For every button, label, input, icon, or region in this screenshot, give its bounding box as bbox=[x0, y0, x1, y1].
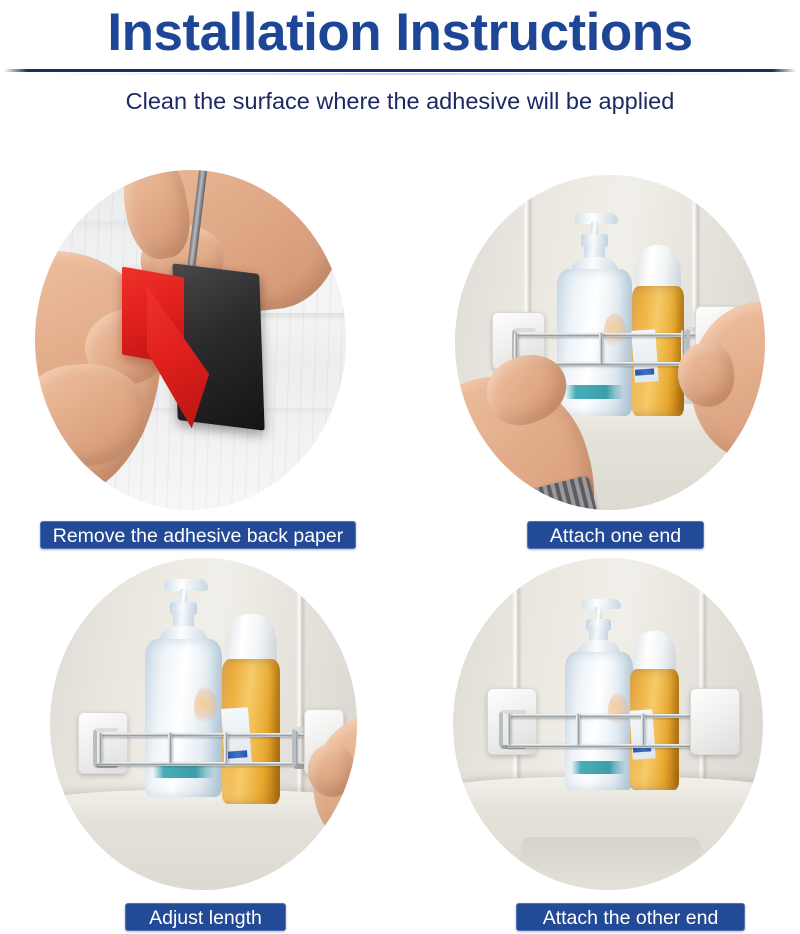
adhesive-pad-right bbox=[690, 688, 740, 755]
page-subtitle: Clean the surface where the adhesive wil… bbox=[0, 88, 800, 115]
countertop bbox=[50, 790, 357, 890]
thumb-right-pulling bbox=[308, 744, 354, 797]
header-divider-shadow bbox=[40, 73, 760, 75]
rack-wire-top bbox=[98, 733, 309, 737]
step-1-caption: Remove the adhesive back paper bbox=[40, 521, 356, 549]
step-2-photo bbox=[455, 175, 765, 510]
rack-wire-bottom bbox=[98, 762, 309, 766]
rack-wire-mid bbox=[576, 714, 580, 745]
wire-rack bbox=[78, 724, 330, 797]
rack-wire-mid-2 bbox=[641, 714, 645, 745]
rack-wire-mid bbox=[599, 333, 603, 364]
installation-instructions-infographic: Installation Instructions Clean the surf… bbox=[0, 0, 800, 934]
step-4-photo bbox=[453, 558, 763, 890]
rack-wire-mid bbox=[168, 733, 172, 764]
step-3-caption: Adjust length bbox=[125, 903, 286, 931]
rack-wire-left-end bbox=[507, 714, 511, 745]
wire-rack bbox=[487, 704, 735, 777]
step-4-caption: Attach the other end bbox=[516, 903, 745, 931]
step-1-photo bbox=[35, 170, 346, 510]
step-3-photo bbox=[50, 558, 357, 890]
counter-basin-edge bbox=[521, 837, 701, 890]
step-2-caption: Attach one end bbox=[527, 521, 704, 549]
rack-wire-left-end bbox=[98, 733, 102, 764]
rack-wire-top bbox=[507, 714, 715, 718]
rack-wire-mid-2 bbox=[224, 733, 228, 764]
page-title: Installation Instructions bbox=[0, 2, 800, 64]
bottle-label-graphic bbox=[194, 687, 217, 728]
rack-wire-bottom bbox=[507, 744, 715, 748]
header-divider bbox=[4, 69, 796, 72]
